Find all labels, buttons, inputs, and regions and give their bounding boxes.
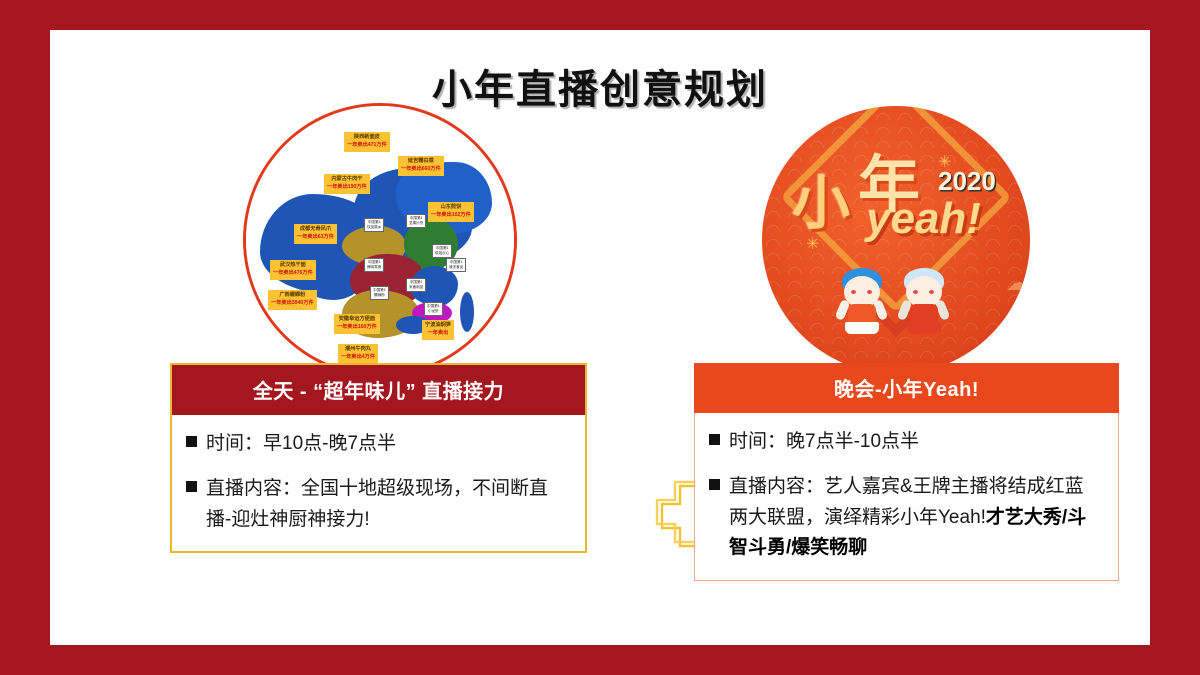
blue-hair-chibi — [840, 266, 884, 334]
chibi-eye — [929, 290, 934, 294]
callout-sales: 一年卖出63万件 — [297, 234, 334, 240]
callout-sales: 一年卖出3940万件 — [271, 300, 314, 306]
chibi-eye — [867, 290, 872, 294]
left-card-header: 全天 - “超年味儿” 直播接力 — [170, 363, 587, 415]
map-pin: 中国第1饮品原乡 — [364, 218, 384, 232]
callout-name: 成都无骨凤爪 — [300, 226, 331, 232]
map-callout: 潮州牛肉丸 一年卖出4万件 — [338, 344, 378, 364]
left-bullet-content: 直播内容：全国十地超级现场，不间断直播-迎灶神厨神接力! — [206, 474, 569, 536]
callout-sales: 一年卖出160万件 — [337, 324, 377, 330]
map-callout: 武汉热干面 一年卖出476万件 — [270, 260, 316, 280]
xiaonian-yeah-image: 小 年 yeah! 2020 ✳ ✳ ☁ — [762, 106, 1030, 374]
sparkle-icon: ✳ — [806, 234, 819, 254]
callout-sales: 一年卖出660万件 — [401, 166, 441, 172]
bullet-square-icon — [186, 481, 197, 492]
right-bullet-content: 直播内容：艺人嘉宾&王牌主播将结成红蓝两大联盟，演绎精彩小年Yeah!才艺大秀/… — [729, 472, 1102, 564]
left-info-card: 全天 - “超年味儿” 直播接力 时间：早10点-晚7点半 直播内容：全国十地超… — [170, 363, 587, 553]
map-callout: 宁波油焖笋 一年卖出 — [422, 320, 454, 340]
bullet-square-icon — [186, 436, 197, 447]
right-card-body: 时间：晚7点半-10点半 直播内容：艺人嘉宾&王牌主播将结成红蓝两大联盟，演绎精… — [694, 413, 1119, 581]
chibi-skirt — [845, 322, 879, 334]
list-item: 时间：晚7点半-10点半 — [709, 427, 1102, 458]
callout-sales: 一年卖出4万件 — [341, 354, 375, 360]
map-callout: 安徽幸运方便面 一年卖出160万件 — [334, 314, 380, 334]
right-bullet-time: 时间：晚7点半-10点半 — [729, 427, 919, 458]
map-region — [460, 292, 474, 332]
bullet-square-icon — [709, 479, 720, 490]
map-callout: 延吉糯白菜 一年卖出660万件 — [398, 156, 444, 176]
cloud-icon: ☁ — [1006, 270, 1028, 296]
map-callout: 山东煎饼 一年卖出102万件 — [428, 202, 474, 222]
callout-name: 山东煎饼 — [441, 204, 462, 210]
list-item: 直播内容：艺人嘉宾&王牌主播将结成红蓝两大联盟，演绎精彩小年Yeah!才艺大秀/… — [709, 472, 1102, 564]
left-bullet-time: 时间：早10点-晚7点半 — [206, 429, 396, 460]
map-pin: 中国第1烘焙点心 — [432, 244, 452, 258]
callout-sales: 一年卖出471万件 — [347, 142, 387, 148]
map-callout: 成都无骨凤爪 一年卖出63万件 — [294, 224, 337, 244]
xiaonian-yeah-circle: 小 年 yeah! 2020 ✳ ✳ ☁ — [762, 106, 1030, 374]
list-item: 直播内容：全国十地超级现场，不间断直播-迎灶神厨神接力! — [186, 474, 569, 536]
map-pin: 中国第1速冻食品 — [446, 258, 466, 272]
map-callout: 广西螺蛳粉 一年卖出3940万件 — [268, 290, 317, 310]
callout-sales: 一年卖出190万件 — [327, 184, 367, 190]
callout-name: 安徽幸运方便面 — [339, 316, 375, 322]
list-item: 时间：早10点-晚7点半 — [186, 429, 569, 460]
map-callout: 陕西新面皮 一年卖出471万件 — [344, 132, 390, 152]
chibi-skirt — [907, 322, 941, 334]
callout-name: 陕西新面皮 — [354, 134, 380, 140]
white-hair-chibi — [902, 266, 946, 334]
callout-name: 宁波油焖笋 — [425, 322, 451, 328]
callout-sales: 一年卖出 — [428, 330, 449, 336]
logo-xiaonian-char1: 小 — [792, 156, 846, 240]
callout-name: 武汉热干面 — [280, 262, 306, 268]
slide-canvas: 小年直播创意规划 中国第1饮品原乡 中国第1坚果炒货 中国第1辣味零食 中国第1… — [50, 30, 1150, 645]
callout-name: 潮州牛肉丸 — [345, 346, 371, 352]
right-card-header: 晚会-小年Yeah! — [694, 363, 1119, 413]
callout-name: 内蒙古牛肉干 — [331, 176, 362, 182]
callout-name: 延吉糯白菜 — [408, 158, 434, 164]
map-pin: 中国第1辣味零食 — [364, 258, 384, 272]
sparkle-icon: ✳ — [938, 152, 951, 172]
china-map-image: 中国第1饮品原乡 中国第1坚果炒货 中国第1辣味零食 中国第1烘焙点心 中国第1… — [246, 106, 514, 374]
bullet-square-icon — [709, 434, 720, 445]
map-pin: 中国第1米面制品 — [406, 278, 426, 292]
china-map-circle: 中国第1饮品原乡 中国第1坚果炒货 中国第1辣味零食 中国第1烘焙点心 中国第1… — [246, 106, 514, 374]
map-pin: 中国第1坚果炒货 — [406, 214, 426, 228]
map-pin: 中国第1小龙虾 — [424, 302, 443, 316]
map-callout: 内蒙古牛肉干 一年卖出190万件 — [324, 174, 370, 194]
logo-yeah: yeah! — [866, 194, 981, 244]
chibi-eye — [913, 290, 918, 294]
right-info-card: 晚会-小年Yeah! 时间：晚7点半-10点半 直播内容：艺人嘉宾&王牌主播将结… — [694, 363, 1119, 581]
left-card-body: 时间：早10点-晚7点半 直播内容：全国十地超级现场，不间断直播-迎灶神厨神接力… — [170, 415, 587, 553]
callout-sales: 一年卖出476万件 — [273, 270, 313, 276]
callout-sales: 一年卖出102万件 — [431, 212, 471, 218]
chibi-eye — [851, 290, 856, 294]
map-pin: 中国第1螺蛳粉 — [370, 286, 389, 300]
callout-name: 广西螺蛳粉 — [279, 292, 305, 298]
